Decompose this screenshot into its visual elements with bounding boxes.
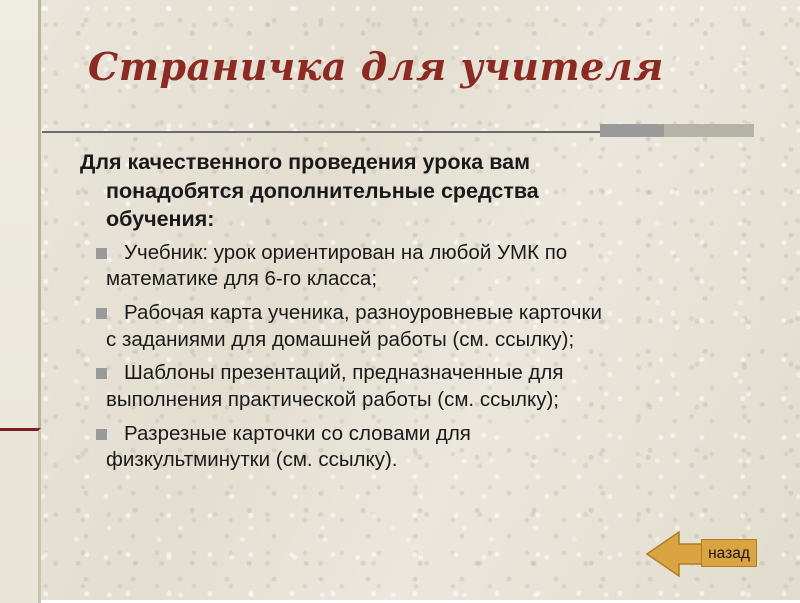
- bullet-4-line-1: Разрезные карточки со словами для: [124, 422, 471, 445]
- square-bullet-icon: [96, 429, 107, 440]
- back-button-label[interactable]: назад: [701, 539, 757, 567]
- left-band-lower-section: [0, 428, 41, 603]
- square-bullet-icon: [96, 248, 107, 259]
- bullet-1-line-2: математике для 6-го класса;: [106, 266, 770, 293]
- divider-block-dark: [600, 124, 664, 137]
- square-bullet-icon: [96, 368, 107, 379]
- lead-line-3: обучения:: [80, 205, 770, 234]
- bullet-2-line-2: с заданиями для домашней работы (см. ссы…: [106, 327, 770, 354]
- list-item: Разрезные карточки со словами для физкул…: [80, 421, 770, 474]
- bullet-3-line-2: выполнения практической работы (см. ссыл…: [106, 387, 770, 414]
- square-bullet-icon: [96, 308, 107, 319]
- bullet-3-line-1: Шаблоны презентаций, предназначенные для: [124, 361, 563, 384]
- slide: Страничка для учителя Для качественного …: [0, 0, 800, 600]
- back-navigation-control[interactable]: назад: [645, 527, 753, 581]
- list-item: Шаблоны презентаций, предназначенные для…: [80, 360, 770, 413]
- bullet-list: Учебник: урок ориентирован на любой УМК …: [80, 240, 770, 474]
- lead-paragraph: Для качественного проведения урока вам п…: [80, 148, 770, 234]
- list-item: Учебник: урок ориентирован на любой УМК …: [80, 240, 770, 293]
- list-item: Рабочая карта ученика, разноуровневые ка…: [80, 300, 770, 353]
- lead-line-1: Для качественного проведения урока вам: [80, 150, 530, 174]
- slide-body: Для качественного проведения урока вам п…: [80, 148, 770, 481]
- bullet-4-line-2: физкультминутки (см. ссылку).: [106, 447, 770, 474]
- left-accent-line: [38, 0, 41, 428]
- divider-block-light: [664, 124, 754, 137]
- bullet-2-line-1: Рабочая карта ученика, разноуровневые ка…: [124, 301, 602, 324]
- page-title: Страничка для учителя: [88, 44, 664, 89]
- lead-line-2: понадобятся дополнительные средства: [80, 177, 770, 206]
- bullet-1-line-1: Учебник: урок ориентирован на любой УМК …: [124, 241, 567, 264]
